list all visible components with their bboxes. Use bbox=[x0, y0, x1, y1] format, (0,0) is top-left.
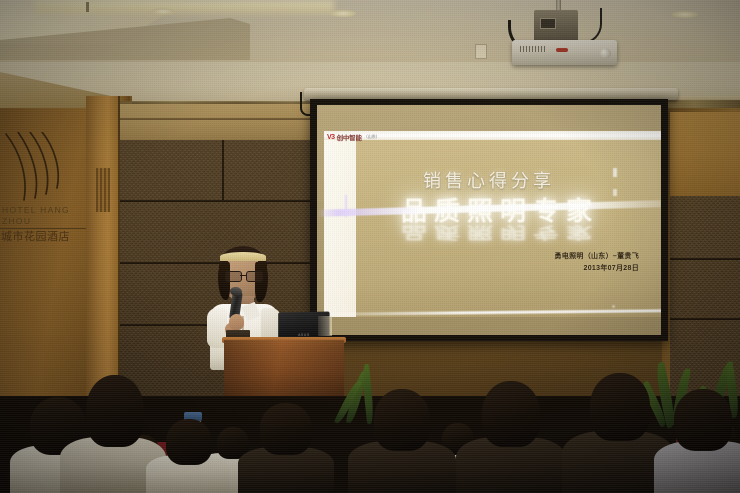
glasses-lens-left bbox=[225, 271, 242, 282]
slide-light-artifact bbox=[613, 189, 617, 196]
ceiling-hook bbox=[86, 2, 89, 12]
slide-logo: V3 创中智能 （山东） bbox=[327, 132, 380, 142]
slide-credit-author: 勇电照明（山东）–董贵飞 bbox=[555, 251, 640, 263]
audience-head bbox=[86, 375, 144, 447]
projector-lens-icon bbox=[600, 48, 611, 59]
slide-logo-chinese: 创中智能 bbox=[337, 132, 362, 142]
slide-credit: 勇电照明（山东）–董贵飞 2013年07月28日 bbox=[555, 251, 640, 275]
presenter-headband bbox=[220, 252, 266, 261]
mesh-divider bbox=[120, 200, 330, 202]
audience-member bbox=[456, 381, 566, 493]
slide-title: 销售心得分享 bbox=[317, 167, 661, 193]
slide-logo-mark: V3 bbox=[327, 134, 335, 141]
hotel-sign-english: HOTEL HANG ZHOU bbox=[0, 205, 92, 227]
wood-band-seam bbox=[120, 118, 334, 120]
mesh-divider-vertical bbox=[222, 140, 224, 200]
slide-subtitle-reflection: 品质照明专家 bbox=[339, 222, 661, 245]
glasses-bridge bbox=[240, 275, 247, 276]
audience-head bbox=[166, 419, 212, 465]
audience bbox=[0, 360, 740, 493]
audience-member bbox=[238, 403, 334, 493]
downlight-icon bbox=[330, 10, 356, 17]
screen-glare-streak bbox=[345, 195, 347, 217]
hotel-swoosh-logo bbox=[2, 132, 86, 210]
projection-screen: V3 创中智能 （山东） 销售心得分享 品质照明专家 品质照明专家 勇电照明（山… bbox=[310, 99, 668, 341]
column-flute-detail bbox=[96, 168, 110, 212]
laptop-screen-glow bbox=[318, 316, 332, 336]
right-wall-band bbox=[664, 100, 740, 108]
mesh-divider bbox=[670, 318, 740, 320]
audience-head bbox=[260, 403, 312, 455]
presenter-glasses-icon bbox=[225, 271, 262, 280]
downlight-icon bbox=[150, 8, 176, 15]
mesh-divider bbox=[670, 258, 740, 260]
slide-credit-date: 2013年07月28日 bbox=[555, 263, 640, 275]
conference-room-photo: HOTEL HANG ZHOU 城市花园酒店 V3 创中智能 （山东） 销 bbox=[0, 0, 740, 493]
projector-vent bbox=[520, 46, 546, 52]
hotel-wall-sign: HOTEL HANG ZHOU 城市花园酒店 bbox=[0, 205, 92, 244]
downlight-icon bbox=[672, 11, 698, 18]
hotel-sign-chinese: 城市花园酒店 bbox=[0, 231, 92, 244]
audience-head bbox=[674, 389, 732, 451]
slide-logo-subtext: （山东） bbox=[364, 134, 380, 140]
screen-speck bbox=[612, 305, 615, 308]
audience-head bbox=[590, 373, 650, 441]
projector-mount-detail bbox=[540, 18, 556, 29]
audience-member bbox=[348, 389, 456, 493]
hotel-sign-rule bbox=[0, 228, 86, 229]
glasses-lens-right bbox=[246, 271, 263, 282]
presenter-hair-side bbox=[255, 262, 268, 302]
audience-member bbox=[654, 389, 740, 493]
slide-light-artifact bbox=[613, 168, 617, 177]
audience-head bbox=[482, 381, 540, 447]
presenter-hand bbox=[229, 314, 244, 330]
screen-surface: V3 创中智能 （山东） 销售心得分享 品质照明专家 品质照明专家 勇电照明（山… bbox=[317, 105, 661, 335]
audience-member bbox=[146, 415, 230, 493]
right-wood-panel bbox=[670, 112, 740, 196]
cove-light bbox=[34, 0, 334, 16]
projector-connector bbox=[556, 48, 568, 52]
audience-head bbox=[374, 389, 430, 451]
wall-plate bbox=[475, 44, 487, 59]
